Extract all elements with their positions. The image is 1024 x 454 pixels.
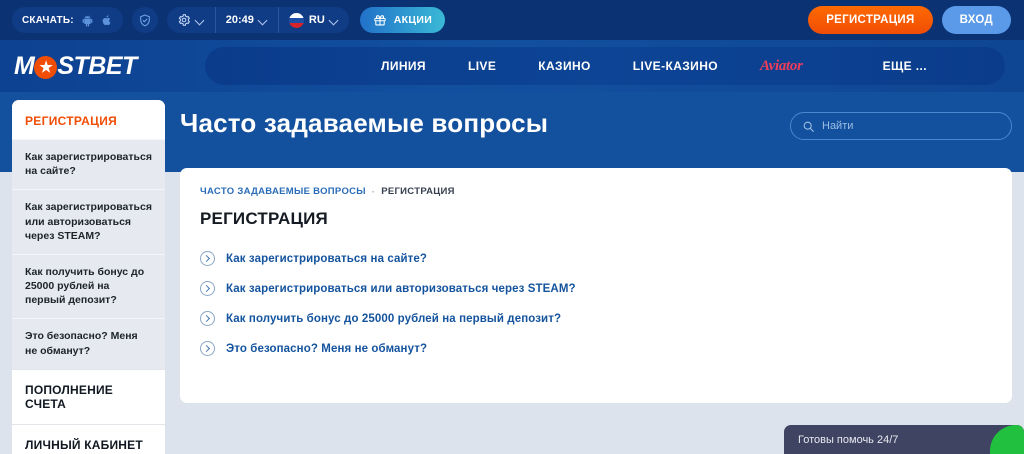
faq-link-label: Как зарегистрироваться на сайте? xyxy=(226,253,427,265)
download-label: СКАЧАТЬ: xyxy=(22,15,74,26)
mostbet-logo[interactable]: M★STBET xyxy=(14,52,137,81)
settings-time-lang-group: 20:49 RU xyxy=(167,7,349,33)
faq-search-box[interactable] xyxy=(790,112,1012,140)
faq-sidebar: РЕГИСТРАЦИЯ Как зарегистрироваться на са… xyxy=(12,100,165,454)
logo-text-post: STBET xyxy=(57,52,136,81)
page-title: Часто задаваемые вопросы xyxy=(180,108,548,139)
faq-link-label: Как зарегистрироваться или авторизоватьс… xyxy=(226,283,576,295)
gift-icon xyxy=(373,13,387,27)
nav-item-live-casino[interactable]: LIVE-КАЗИНО xyxy=(612,47,739,85)
promotions-label: АКЦИИ xyxy=(394,14,432,26)
search-icon xyxy=(802,120,815,133)
chevron-down-icon xyxy=(196,16,205,25)
register-button[interactable]: РЕГИСТРАЦИЯ xyxy=(808,6,932,34)
faq-question-list: Как зарегистрироваться на сайте? Как зар… xyxy=(200,251,992,356)
chat-status-indicator xyxy=(990,425,1024,454)
russia-flag-icon xyxy=(289,13,304,28)
sidebar-category-deposit[interactable]: ПОПОЛНЕНИЕ СЧЕТА xyxy=(12,369,165,424)
breadcrumb-root[interactable]: ЧАСТО ЗАДАВАЕМЫЕ ВОПРОСЫ xyxy=(200,186,366,197)
main-navigation-bar: M★STBET ЛИНИЯ LIVE КАЗИНО LIVE-КАЗИНО Av… xyxy=(0,40,1024,92)
sidebar-item-how-to-register[interactable]: Как зарегистрироваться на сайте? xyxy=(12,139,165,189)
nav-item-aviator[interactable]: Aviator xyxy=(739,47,824,85)
search-input[interactable] xyxy=(822,120,1000,132)
breadcrumb: ЧАСТО ЗАДАВАЕМЫЕ ВОПРОСЫ · РЕГИСТРАЦИЯ xyxy=(200,186,992,197)
breadcrumb-current: РЕГИСТРАЦИЯ xyxy=(381,186,455,197)
sidebar-category-account[interactable]: ЛИЧНЫЙ КАБИНЕТ xyxy=(12,424,165,454)
page-root: СКАЧАТЬ: xyxy=(0,0,1024,454)
faq-content-card: ЧАСТО ЗАДАВАЕМЫЕ ВОПРОСЫ · РЕГИСТРАЦИЯ Р… xyxy=(180,168,1012,403)
gear-icon xyxy=(177,13,191,27)
nav-item-live[interactable]: LIVE xyxy=(447,47,517,85)
login-button[interactable]: ВХОД xyxy=(942,6,1011,34)
sidebar-item-steam-auth[interactable]: Как зарегистрироваться или авторизоватьс… xyxy=(12,189,165,254)
chevron-down-icon xyxy=(330,16,339,25)
chevron-right-circle-icon xyxy=(200,251,215,266)
faq-link-steam-auth[interactable]: Как зарегистрироваться или авторизоватьс… xyxy=(200,281,992,296)
star-icon: ★ xyxy=(39,60,52,75)
chevron-right-circle-icon xyxy=(200,281,215,296)
sidebar-item-bonus-25000[interactable]: Как получить бонус до 25000 рублей на пе… xyxy=(12,254,165,319)
logo-star-badge: ★ xyxy=(34,56,57,79)
sidebar-heading-registration[interactable]: РЕГИСТРАЦИЯ xyxy=(12,100,165,139)
sidebar-item-is-it-safe[interactable]: Это безопасно? Меня не обманут? xyxy=(12,318,165,368)
faq-link-label: Это безопасно? Меня не обманут? xyxy=(226,343,427,355)
chevron-right-circle-icon xyxy=(200,311,215,326)
android-icon[interactable] xyxy=(81,14,94,27)
top-utility-bar: СКАЧАТЬ: xyxy=(0,0,1024,40)
faq-link-is-it-safe[interactable]: Это безопасно? Меня не обманут? xyxy=(200,341,992,356)
security-shield-button[interactable] xyxy=(132,7,158,33)
nav-item-line[interactable]: ЛИНИЯ xyxy=(360,47,447,85)
support-chat-widget[interactable]: Готовы помочь 24/7 xyxy=(784,425,1024,454)
nav-links: ЛИНИЯ LIVE КАЗИНО LIVE-КАЗИНО Aviator ЕЩ… xyxy=(205,47,948,85)
language-selector[interactable]: RU xyxy=(278,7,349,33)
download-apps-pill[interactable]: СКАЧАТЬ: xyxy=(12,7,123,33)
card-title: РЕГИСТРАЦИЯ xyxy=(200,209,992,229)
language-label: RU xyxy=(309,14,325,26)
support-chat-label: Готовы помочь 24/7 xyxy=(798,434,898,446)
breadcrumb-separator: · xyxy=(372,187,375,197)
apple-icon[interactable] xyxy=(101,14,113,27)
logo-text-pre: M xyxy=(14,52,34,81)
nav-item-casino[interactable]: КАЗИНО xyxy=(517,47,612,85)
current-time: 20:49 xyxy=(226,14,254,26)
faq-link-how-to-register[interactable]: Как зарегистрироваться на сайте? xyxy=(200,251,992,266)
settings-selector[interactable] xyxy=(167,7,215,33)
faq-link-label: Как получить бонус до 25000 рублей на пе… xyxy=(226,313,561,325)
shield-icon xyxy=(138,13,152,28)
chevron-down-icon xyxy=(259,16,268,25)
promotions-button[interactable]: АКЦИИ xyxy=(360,7,445,33)
auth-buttons: РЕГИСТРАЦИЯ ВХОД xyxy=(808,6,1024,34)
faq-link-bonus-25000[interactable]: Как получить бонус до 25000 рублей на пе… xyxy=(200,311,992,326)
time-selector[interactable]: 20:49 xyxy=(215,7,278,33)
chevron-right-circle-icon xyxy=(200,341,215,356)
nav-item-more[interactable]: ЕЩЕ ... xyxy=(862,47,948,85)
